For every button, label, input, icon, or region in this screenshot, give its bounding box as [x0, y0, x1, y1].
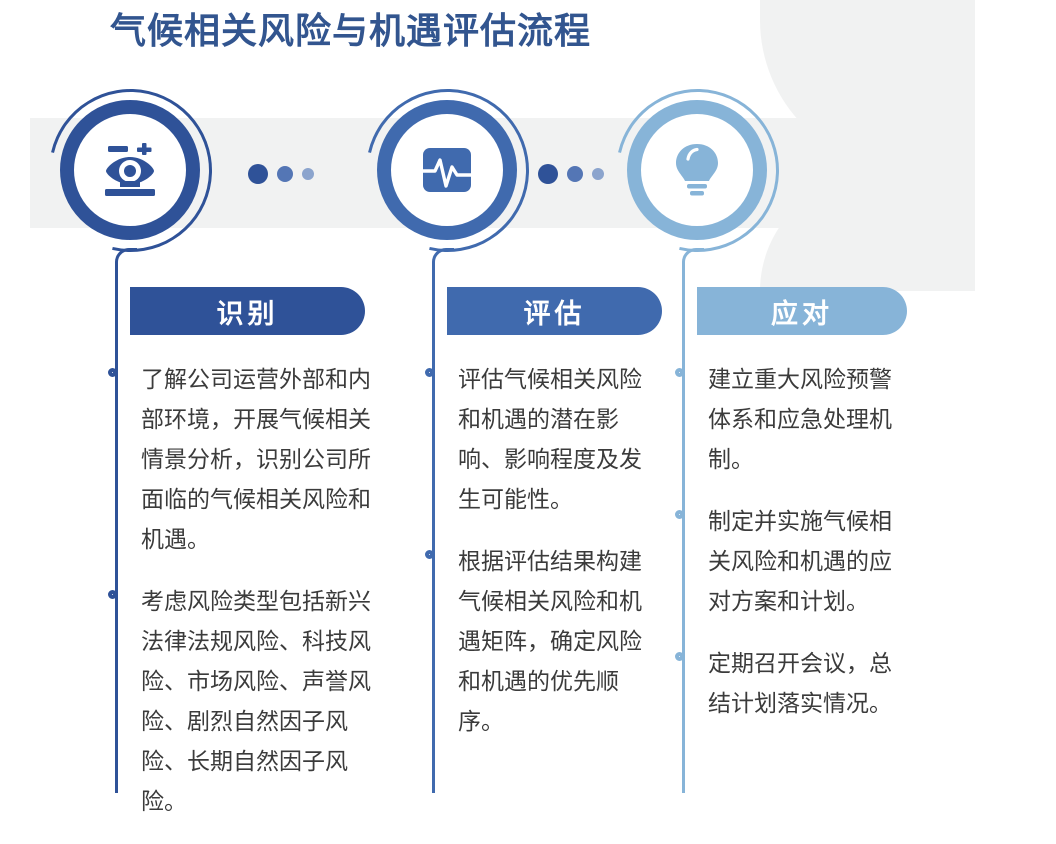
dots-between-2-3: [538, 164, 604, 184]
icon-ring-respond: [627, 100, 767, 240]
step-circle-respond[interactable]: [622, 100, 792, 250]
step-column-respond: 应对 建立重大风险预警体系和应急处理机制。 制定并实施气候相关风险和机遇的应对方…: [622, 0, 922, 810]
infographic-canvas: 气候相关风险与机遇评估流程: [0, 0, 1056, 810]
bullet-dot-icon: [425, 368, 434, 377]
list-item: 了解公司运营外部和内部环境，开展气候相关情景分析，识别公司所面临的气候相关风险和…: [105, 360, 375, 560]
list-item: 评估气候相关风险和机遇的潜在影响、影响程度及发生可能性。: [422, 360, 652, 520]
bullet-list-identify: 了解公司运营外部和内部环境，开展气候相关情景分析，识别公司所面临的气候相关风险和…: [105, 360, 375, 844]
dot-small-icon: [592, 168, 604, 180]
step-label-pill-identify[interactable]: 识别: [130, 287, 365, 335]
bullet-dot-icon: [108, 368, 117, 377]
bullet-text: 制定并实施气候相关风险和机遇的应对方案和计划。: [708, 502, 902, 622]
dot-medium-icon: [567, 166, 583, 182]
dot-large-icon: [538, 164, 558, 184]
step-label-respond: 应对: [771, 292, 833, 331]
lightbulb-icon: [671, 141, 723, 199]
step-label-assess: 评估: [524, 292, 586, 331]
bullet-dot-icon: [108, 590, 117, 599]
bullet-text: 了解公司运营外部和内部环境，开展气候相关情景分析，识别公司所面临的气候相关风险和…: [141, 360, 375, 560]
step-column-identify: 识别 了解公司运营外部和内部环境，开展气候相关情景分析，识别公司所面临的气候相关…: [55, 0, 395, 810]
bullet-list-assess: 评估气候相关风险和机遇的潜在影响、影响程度及发生可能性。 根据评估结果构建气候相…: [422, 360, 652, 764]
list-item: 根据评估结果构建气候相关风险和机遇矩阵，确定风险和机遇的优先顺序。: [422, 542, 652, 742]
bullet-dot-icon: [675, 510, 684, 519]
bullet-text: 建立重大风险预警体系和应急处理机制。: [708, 360, 902, 480]
eye-identify-icon: [100, 141, 160, 199]
step-circle-identify[interactable]: [55, 100, 225, 250]
icon-ring-assess: [377, 100, 517, 240]
dot-large-icon: [248, 164, 268, 184]
page-title: 气候相关风险与机遇评估流程: [110, 2, 591, 54]
pulse-monitor-icon: [419, 142, 475, 198]
icon-ring-identify: [60, 100, 200, 240]
bullet-list-respond: 建立重大风险预警体系和应急处理机制。 制定并实施气候相关风险和机遇的应对方案和计…: [672, 360, 902, 746]
dot-medium-icon: [277, 166, 293, 182]
bullet-text: 考虑风险类型包括新兴法律法规风险、科技风险、市场风险、声誉风险、剧烈自然因子风险…: [141, 582, 375, 822]
dots-between-1-2: [248, 164, 314, 184]
list-item: 考虑风险类型包括新兴法律法规风险、科技风险、市场风险、声誉风险、剧烈自然因子风险…: [105, 582, 375, 822]
bullet-dot-icon: [675, 368, 684, 377]
step-circle-assess[interactable]: [372, 100, 542, 250]
dot-small-icon: [302, 168, 314, 180]
bullet-dot-icon: [675, 652, 684, 661]
step-label-pill-respond[interactable]: 应对: [697, 287, 907, 335]
list-item: 定期召开会议，总结计划落实情况。: [672, 644, 902, 724]
bullet-dot-icon: [425, 550, 434, 559]
list-item: 制定并实施气候相关风险和机遇的应对方案和计划。: [672, 502, 902, 622]
step-label-identify: 识别: [217, 292, 279, 331]
list-item: 建立重大风险预警体系和应急处理机制。: [672, 360, 902, 480]
bullet-text: 定期召开会议，总结计划落实情况。: [708, 644, 902, 724]
